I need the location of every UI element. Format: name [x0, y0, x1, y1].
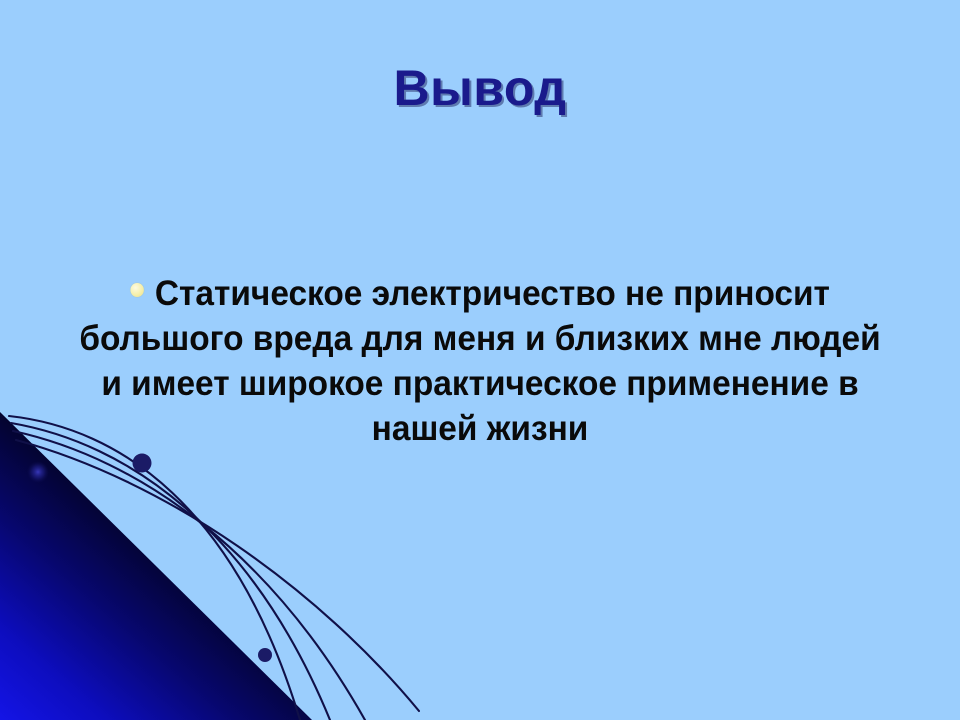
list-item-label: Статическое электричество не приносит бо…	[79, 274, 880, 448]
slide-canvas: Вывод Статическое электричество не прино…	[0, 0, 960, 720]
body-content: Статическое электричество не приносит бо…	[58, 236, 902, 487]
page-title: Вывод	[0, 62, 960, 115]
arc-node-glow	[27, 461, 49, 483]
bullet-dot-icon	[130, 283, 143, 297]
list-item: Статическое электричество не приносит бо…	[77, 271, 883, 452]
arc-node-small	[258, 648, 272, 662]
